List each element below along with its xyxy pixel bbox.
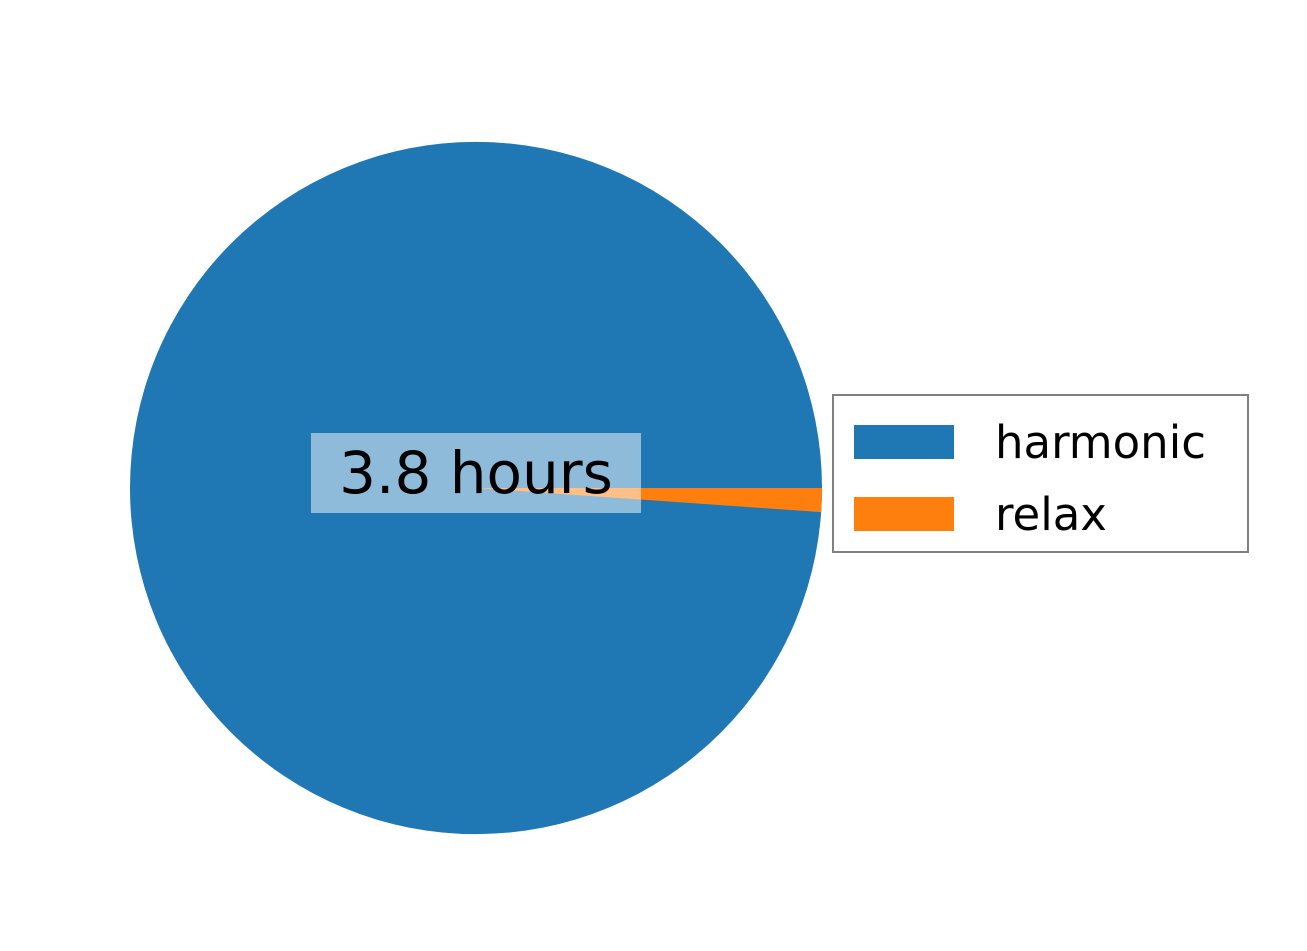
legend: harmonic relax xyxy=(832,394,1249,553)
pie-chart-figure: 3.8 hours harmonic relax xyxy=(0,0,1307,951)
legend-swatch-harmonic xyxy=(854,425,954,459)
legend-label-relax: relax xyxy=(995,478,1107,550)
legend-label-harmonic: harmonic xyxy=(995,406,1206,478)
legend-swatch-relax xyxy=(854,497,954,531)
pie-slice-label-harmonic: 3.8 hours xyxy=(311,433,641,513)
pie-slice-label-harmonic-text: 3.8 hours xyxy=(339,444,613,502)
